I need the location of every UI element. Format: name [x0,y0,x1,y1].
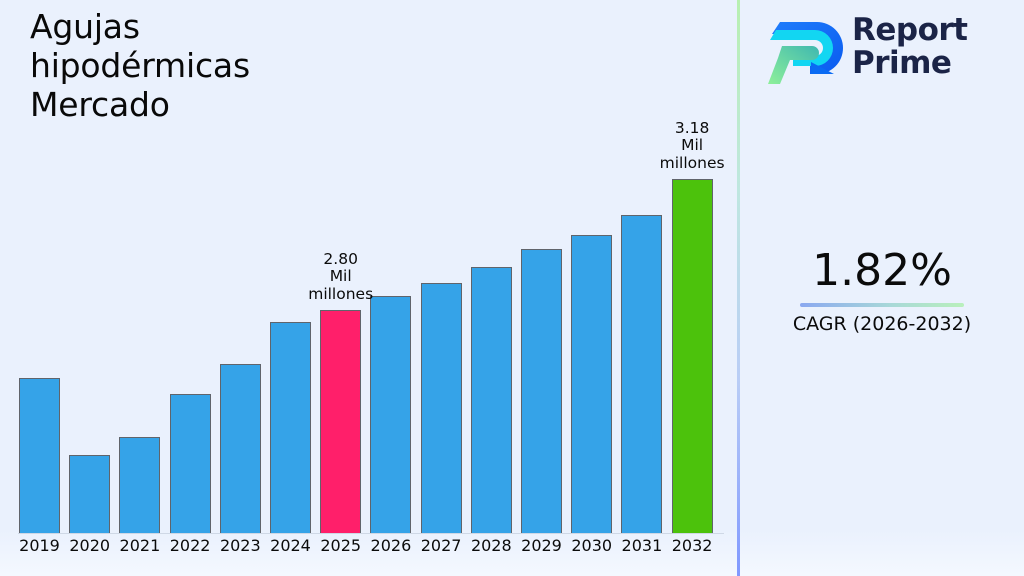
x-tick-2021: 2021 [114,536,165,555]
bar-2026[interactable] [370,296,411,534]
x-tick-2027: 2027 [416,536,467,555]
x-axis-tick-labels: 2019202020212022202320242025202620272028… [0,536,738,564]
cagr-block: 1.82% CAGR (2026-2032) [740,248,1024,335]
x-tick-2022: 2022 [165,536,216,555]
cagr-divider-rule [800,303,964,307]
x-tick-2026: 2026 [365,536,416,555]
bar-2029[interactable] [521,249,562,534]
bar-chart: 2.80 Mil millones3.18 Mil millones 20192… [0,0,738,576]
brand-logo: Report Prime [768,14,1008,92]
brand-name: Report Prime [852,14,968,80]
x-axis-line [18,533,724,534]
bar-2025[interactable] [320,310,361,534]
x-tick-2032: 2032 [667,536,718,555]
bar-2027[interactable] [421,283,462,534]
bar-2031[interactable] [621,215,662,534]
bar-2023[interactable] [220,364,261,534]
x-tick-2031: 2031 [616,536,667,555]
report-prime-logo-icon [768,18,846,88]
cagr-label: CAGR (2026-2032) [740,313,1024,335]
x-tick-2028: 2028 [466,536,517,555]
infographic-root: Agujas hipodérmicas Mercado 2.80 Mil mil… [0,0,1024,576]
x-tick-2029: 2029 [516,536,567,555]
bar-2030[interactable] [571,235,612,534]
x-tick-2024: 2024 [265,536,316,555]
bar-value-label-2025: 2.80 Mil millones [286,251,396,305]
bar-2019[interactable] [19,378,60,534]
right-panel: Report Prime 1.82% CAGR (2026-2032) [740,0,1024,576]
bar-2028[interactable] [471,267,512,534]
chart-plot-area: 2.80 Mil millones3.18 Mil millones [0,0,738,534]
bar-2021[interactable] [119,437,160,534]
x-tick-2030: 2030 [566,536,617,555]
bar-2022[interactable] [170,394,211,534]
bar-2024[interactable] [270,322,311,534]
x-tick-2020: 2020 [64,536,115,555]
bar-value-label-2032: 3.18 Mil millones [637,120,747,174]
x-tick-2019: 2019 [14,536,65,555]
cagr-value: 1.82% [740,248,1024,294]
bar-2032[interactable] [672,179,713,534]
bar-2020[interactable] [69,455,110,534]
x-tick-2023: 2023 [215,536,266,555]
x-tick-2025: 2025 [315,536,366,555]
